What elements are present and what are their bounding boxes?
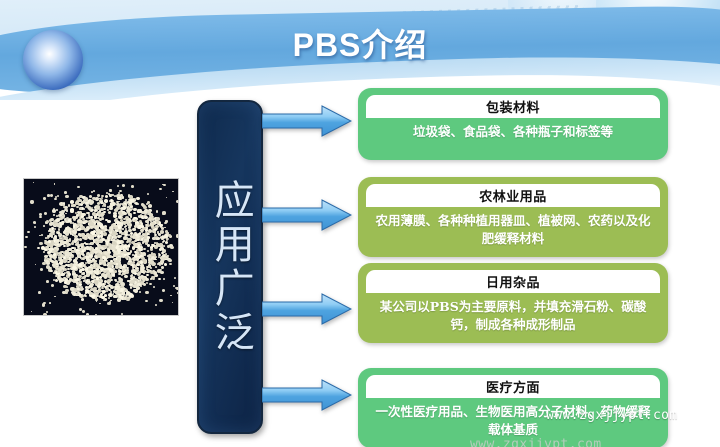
watermark-url-secondary: www.zgxjjypt.com [470,437,602,447]
card-header: 农林业用品 [366,184,660,207]
watermark-url: www.zgxjjypt.com [546,408,678,423]
arrow-to-packaging [262,104,352,138]
pellets-photo [24,179,178,315]
center-panel-label: 应用广泛 [208,179,251,355]
card-title: 医疗方面 [486,377,540,396]
arrow-to-agriculture [262,198,352,232]
slide-canvas: PBS介绍 应用广泛 [0,0,720,447]
card-header: 日用杂品 [366,270,660,293]
card-packaging[interactable]: 包装材料 垃圾袋、食品袋、各种瓶子和标签等 [358,88,668,160]
header-banner: PBS介绍 [0,0,720,100]
card-body: 垃圾袋、食品袋、各种瓶子和标签等 [358,118,668,150]
card-body: 某公司以PBS为主要原料，并填充滑石粉、碳酸钙，制成各种成形制品 [358,293,668,343]
card-title: 杂品 [513,272,540,291]
product-photo [23,178,179,316]
card-title-lead: 日用 [486,272,513,291]
card-daily-goods[interactable]: 日用杂品 某公司以PBS为主要原料，并填充滑石粉、碳酸钙，制成各种成形制品 [358,263,668,343]
arrow-to-medical [262,378,352,412]
card-title: 包装材料 [486,97,540,116]
card-title: 农林业用品 [479,186,547,205]
card-header: 医疗方面 [366,375,660,398]
card-agriculture[interactable]: 农林业用品 农用薄膜、各种种植用器皿、植被网、农药以及化肥缓释材料 [358,177,668,257]
card-header: 包装材料 [366,95,660,118]
center-panel: 应用广泛 [197,100,263,434]
page-title: PBS介绍 [0,20,720,66]
arrow-to-daily-goods [262,292,352,326]
card-body: 农用薄膜、各种种植用器皿、植被网、农药以及化肥缓释材料 [358,207,668,257]
